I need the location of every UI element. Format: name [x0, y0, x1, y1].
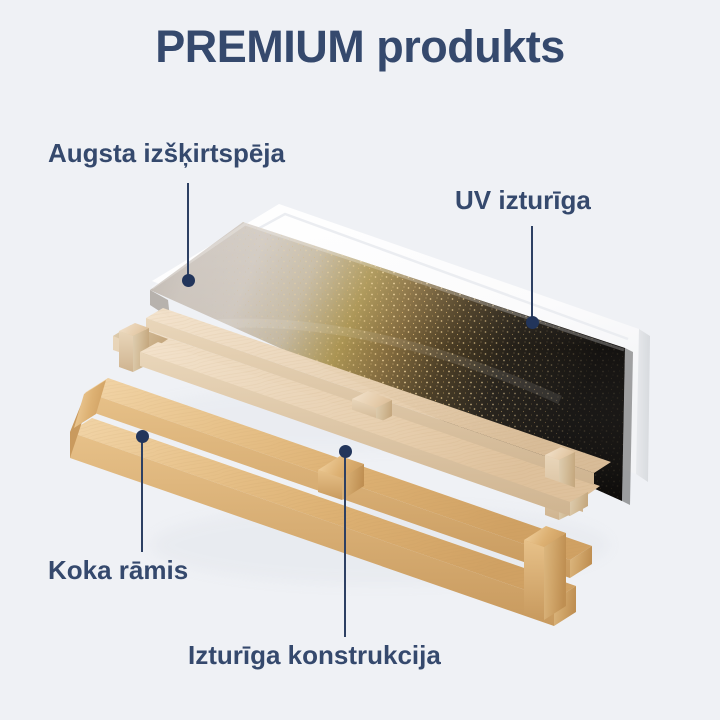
callout-dot-durable	[339, 445, 352, 458]
page-title-premium: PREMIUM	[155, 21, 364, 72]
callout-label-durable: Izturīga konstrukcija	[188, 641, 441, 670]
callout-label-resolution: Augsta izšķirtspēja	[48, 139, 285, 168]
callout-dot-uv	[526, 316, 539, 329]
callout-leader-line-resolution	[187, 183, 189, 282]
page-title: PREMIUM produkts	[0, 24, 720, 69]
page-title-product: produkts	[376, 21, 565, 72]
callout-dot-resolution	[182, 274, 195, 287]
callout-leader-line-wood-frame	[141, 437, 143, 552]
callout-leader-line-durable	[344, 452, 346, 637]
infographic-canvas: PREMIUM produkts Augsta izšķirtspēja UV …	[0, 0, 720, 720]
callout-leader-line-uv	[531, 226, 533, 324]
callout-label-wood-frame: Koka rāmis	[48, 556, 188, 585]
product-exploded-illustration	[0, 0, 720, 720]
callout-label-uv: UV izturīga	[455, 186, 591, 215]
callout-dot-wood-frame	[136, 430, 149, 443]
